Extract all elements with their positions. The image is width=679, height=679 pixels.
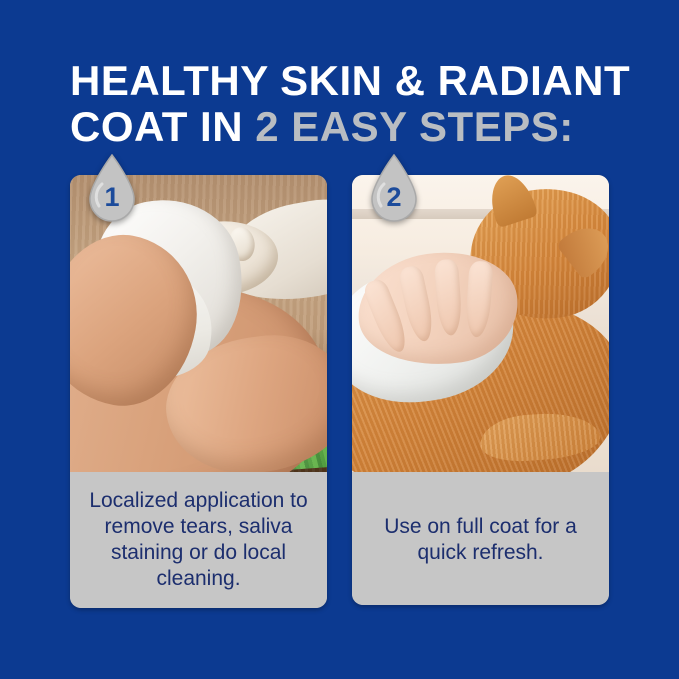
heading-line-1-text: HEALTHY SKIN & RADIANT xyxy=(70,57,630,104)
step-2-number: 2 xyxy=(366,180,422,214)
step-1-number: 1 xyxy=(84,180,140,214)
step-card-1: Localized application to remove tears, s… xyxy=(70,175,327,608)
heading-line-2-gray-text: 2 EASY STEPS: xyxy=(255,103,574,150)
step-2-number-badge: 2 xyxy=(366,154,422,228)
step-2-caption: Use on full coat for a quick refresh. xyxy=(352,472,609,605)
heading-line-2-white-text: COAT IN xyxy=(70,103,243,150)
step-2-caption-text: Use on full coat for a quick refresh. xyxy=(366,514,595,566)
step-1-number-badge: 1 xyxy=(84,154,140,228)
heading-line-2: COAT IN 2 EASY STEPS: xyxy=(70,104,626,150)
step-1-caption: Localized application to remove tears, s… xyxy=(70,472,327,608)
heading-line-1: HEALTHY SKIN & RADIANT xyxy=(70,58,626,104)
finger xyxy=(434,259,463,336)
step-1-caption-text: Localized application to remove tears, s… xyxy=(84,488,313,592)
step-card-2: Use on full coat for a quick refresh. xyxy=(352,175,609,605)
finger xyxy=(464,260,493,337)
promo-poster: HEALTHY SKIN & RADIANT COAT IN 2 EASY ST… xyxy=(0,0,679,679)
page-title: HEALTHY SKIN & RADIANT COAT IN 2 EASY ST… xyxy=(70,58,626,150)
